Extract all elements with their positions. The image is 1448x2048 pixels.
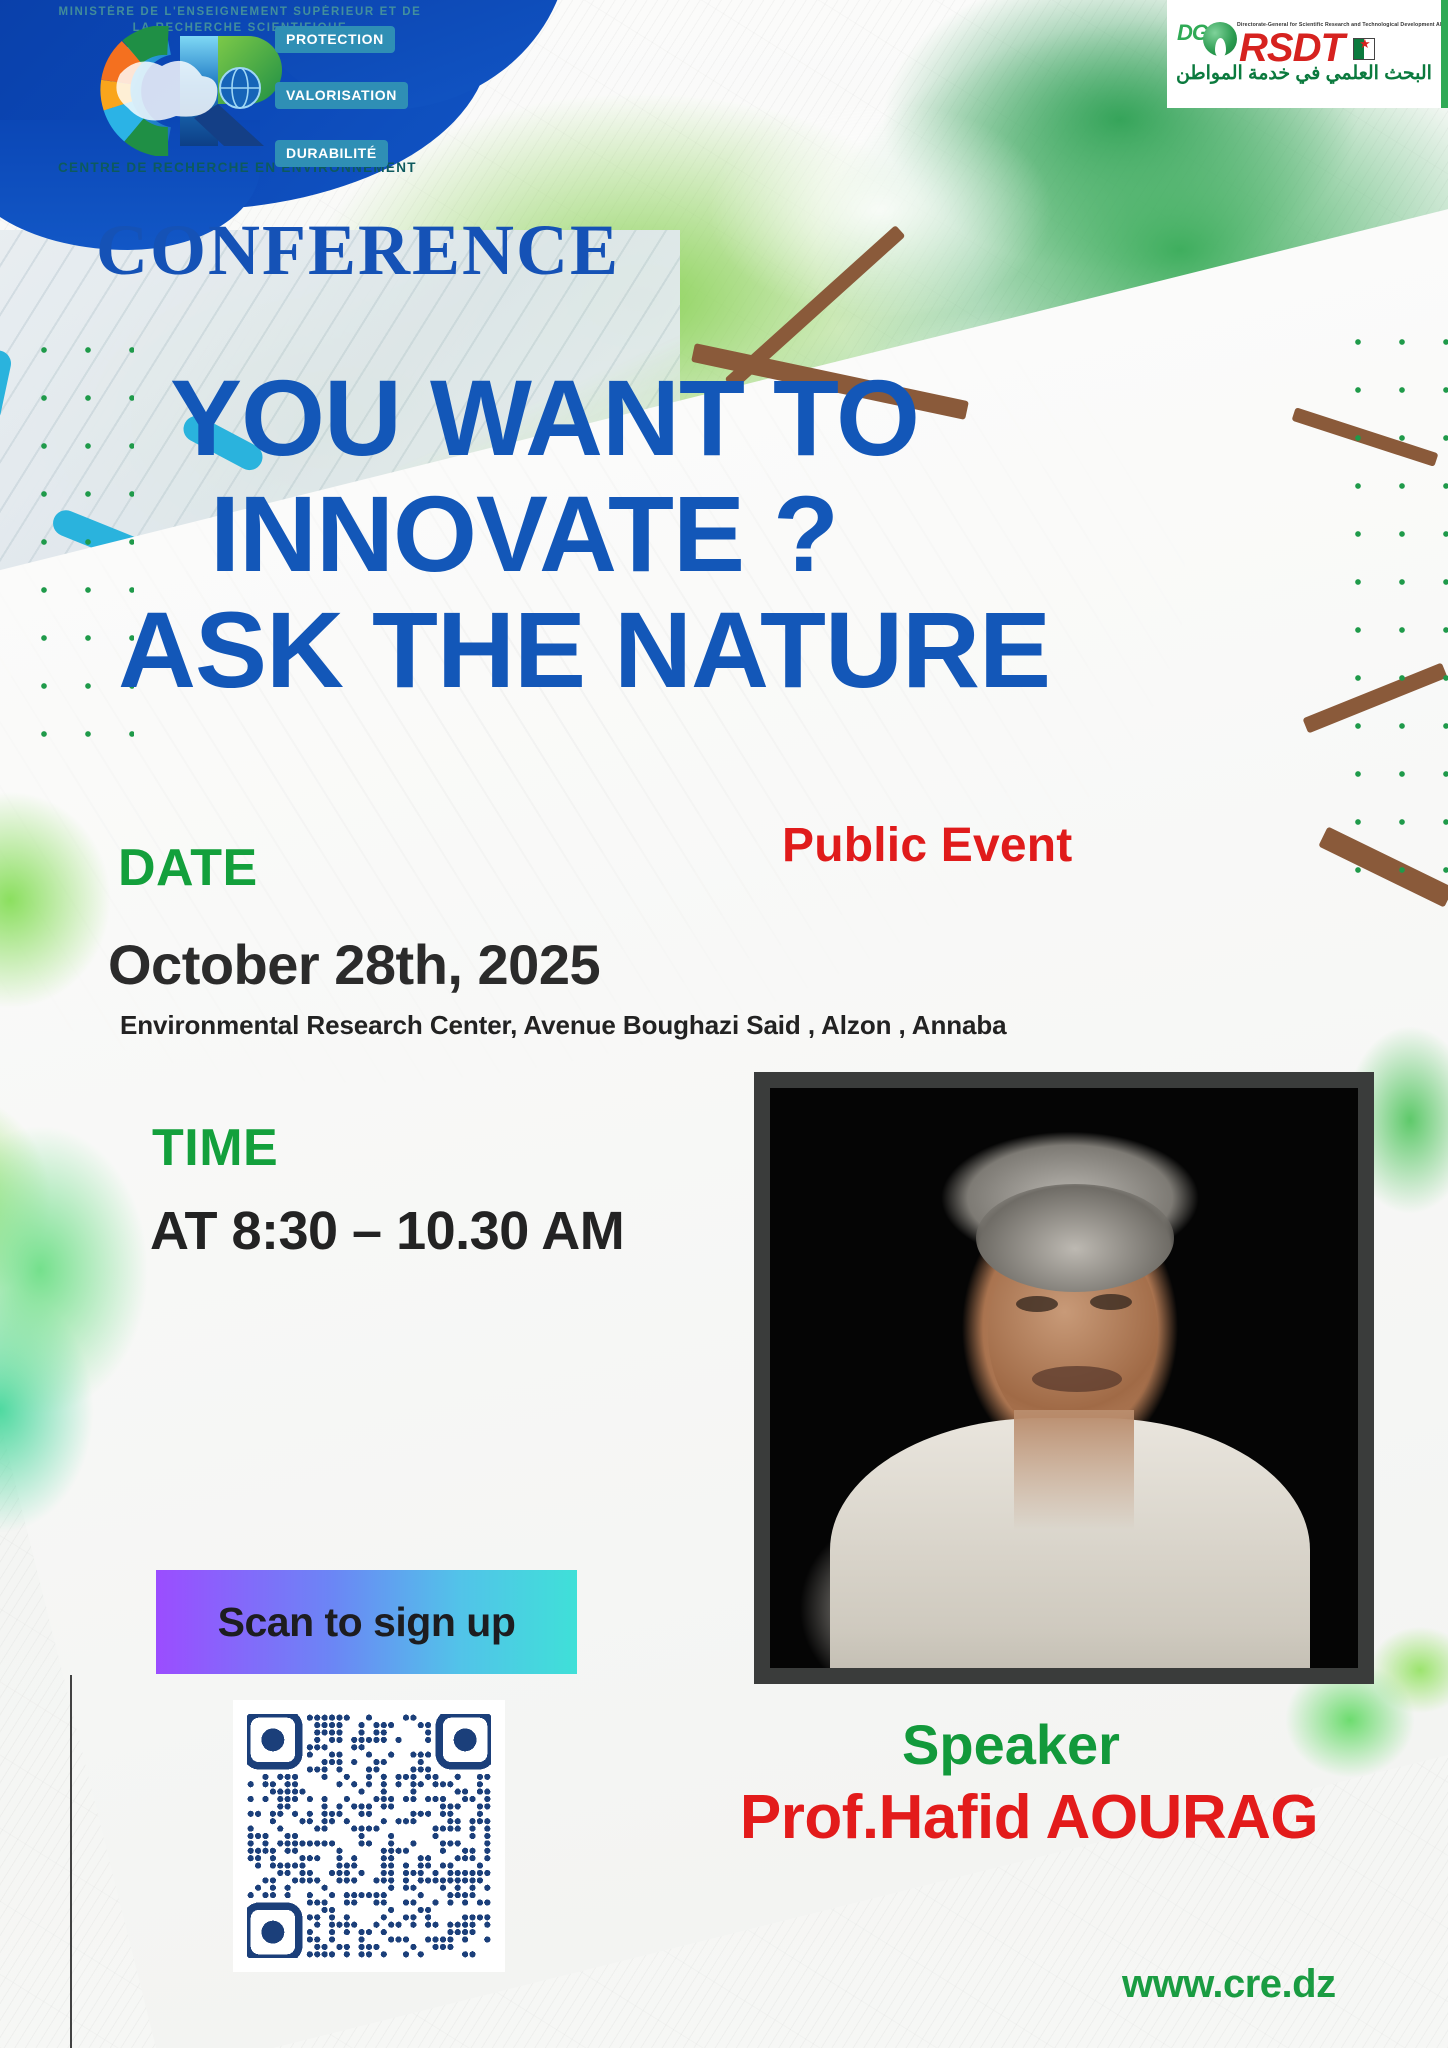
qr-code[interactable] [233,1700,505,1972]
pill-protection: PROTECTION [275,26,395,53]
portrait-hair [976,1184,1174,1292]
rsdt-logo: DG Directorate-General for Scientific Re… [1167,0,1448,108]
headline: YOU WANT TO INNOVATE ? ASK THE NATURE [118,360,1408,708]
time-value: AT 8:30 – 10.30 AM [150,1200,624,1262]
qr-code-image [247,1714,491,1958]
date-label: DATE [118,838,258,898]
date-value: October 28th, 2025 [108,932,600,997]
speaker-name: Prof.Hafid AOURAG [620,1782,1448,1853]
portrait-eye-right [1090,1294,1132,1310]
rsdt-arabic-slogan: البحث العلمي في خدمة المواطن [1167,62,1441,85]
speaker-label: Speaker [620,1712,1448,1777]
website-url[interactable]: www.cre.dz [1122,1962,1336,2007]
time-label: TIME [152,1118,278,1178]
scan-banner-label: Scan to sign up [218,1599,516,1646]
public-event-badge: Public Event [782,818,1072,873]
pill-durabilite: DURABILITÉ [275,140,388,167]
portrait-eye-left [1016,1296,1058,1312]
headline-line-1: YOU WANT TO [118,360,1408,476]
scan-to-sign-up-banner[interactable]: Scan to sign up [156,1570,577,1674]
pill-valorisation: VALORISATION [275,82,408,109]
speaker-portrait [770,1088,1358,1668]
conference-poster: MINISTÈRE DE L'ENSEIGNEMENT SUPÉRIEUR ET… [0,0,1448,2048]
portrait-neck [1014,1410,1134,1530]
portrait-smile [1032,1366,1122,1392]
headline-line-2: INNOVATE ? [118,476,1408,592]
kicker-conference: CONFERENCE [96,214,620,286]
rsdt-leaf-icon [1215,38,1226,58]
headline-line-3: ASK THE NATURE [118,592,1408,708]
venue-address: Environmental Research Center, Avenue Bo… [120,1010,1007,1041]
speaker-photo-frame [754,1072,1374,1684]
algeria-flag-icon [1353,38,1375,60]
